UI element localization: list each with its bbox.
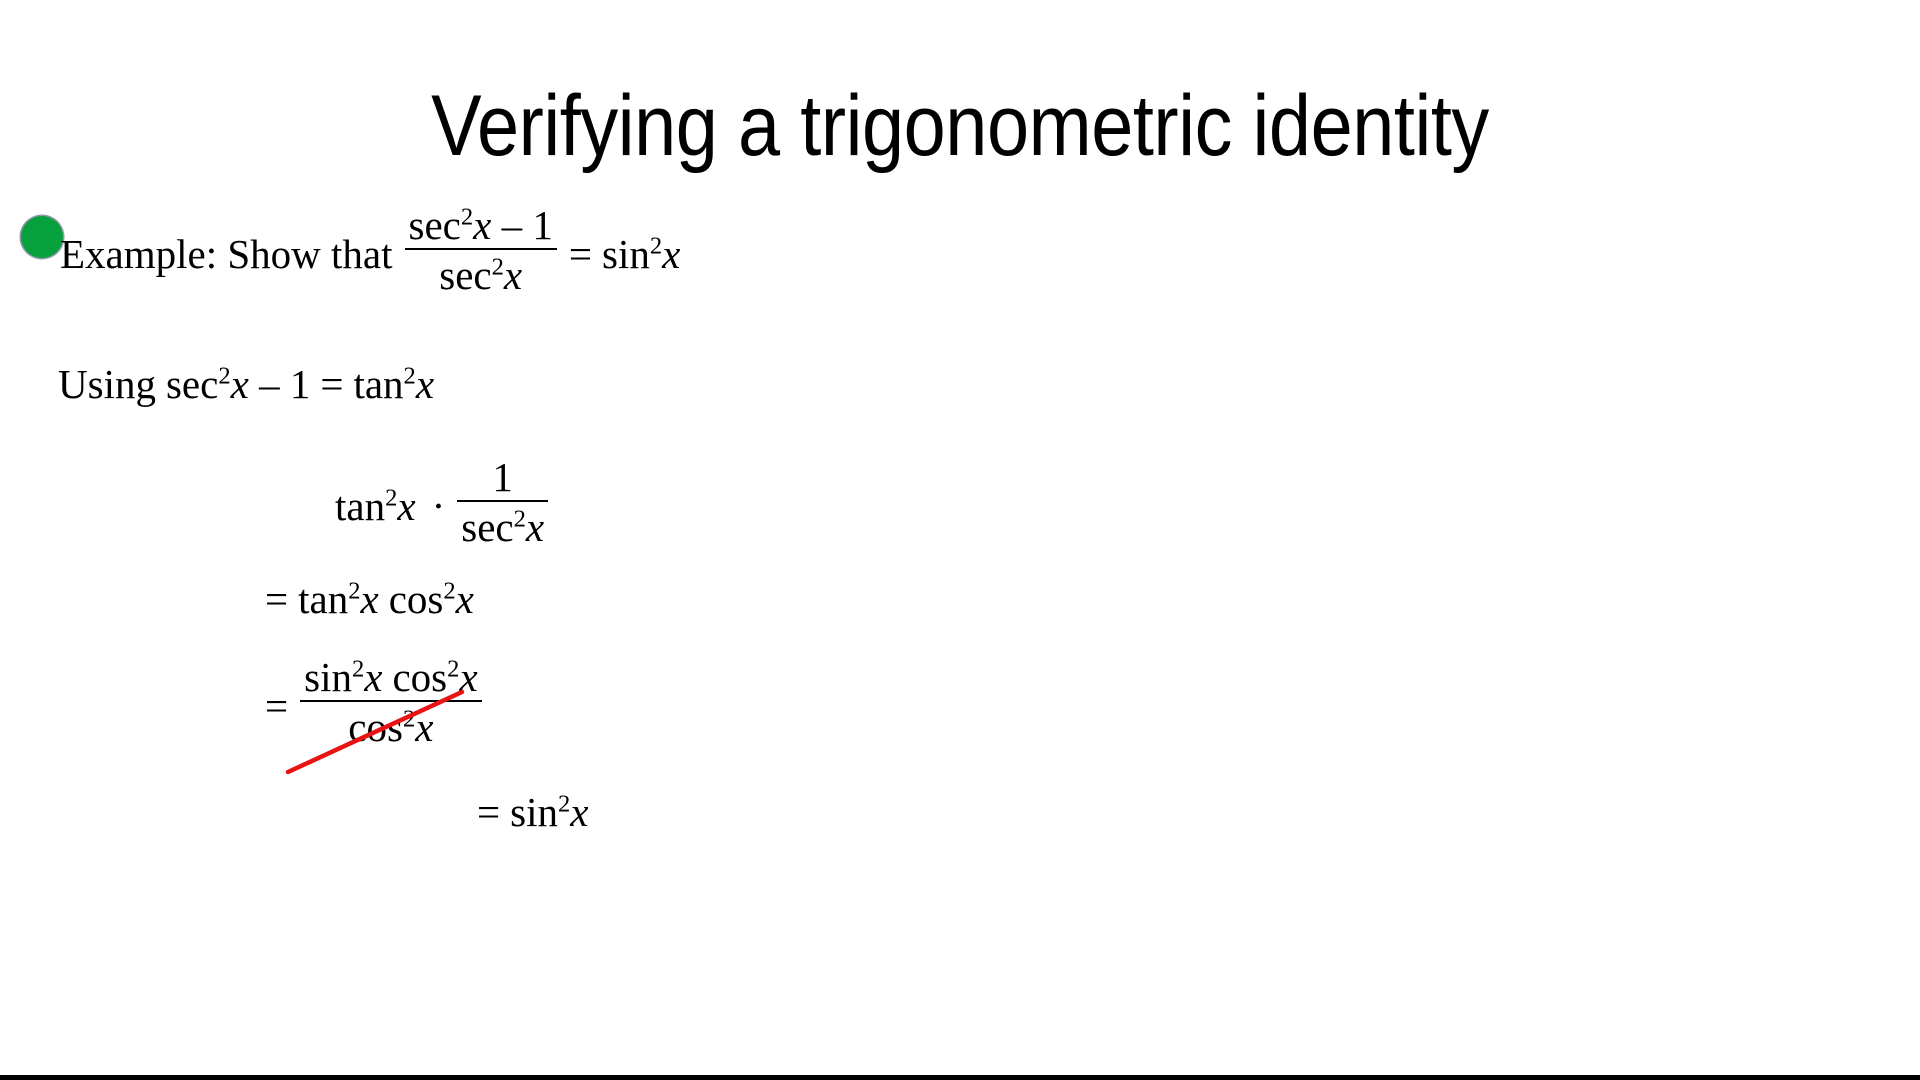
- sincos-fraction-numerator: sin2xcos2x: [300, 655, 482, 702]
- sincos-num-term1-base: sin: [304, 654, 352, 700]
- slide-canvas: Verifying a trigonometric identity Examp…: [0, 0, 1920, 1080]
- sincos-fraction: sin2xcos2xcos2x: [300, 655, 482, 750]
- using-rhs-exponent: 2: [404, 362, 416, 389]
- tancos-term2-base: cos: [389, 576, 444, 622]
- example-den-base: sec: [439, 252, 491, 298]
- sincos-fraction-denominator: cos2x: [300, 702, 482, 749]
- product-den-base: sec: [461, 504, 513, 550]
- tancos-term1-exponent: 2: [348, 577, 360, 604]
- sincos-den-variable: x: [415, 704, 433, 750]
- using-rhs-variable: x: [416, 361, 434, 407]
- bullet-dot-icon: [21, 216, 63, 258]
- example-rhs-exponent: 2: [650, 232, 662, 259]
- product-lhs-base: tan: [335, 483, 385, 529]
- example-num-base: sec: [409, 202, 461, 248]
- sincos-equals-sign: =: [265, 683, 288, 729]
- tancos-term2-exponent: 2: [443, 577, 455, 604]
- sincos-num-term1-exponent: 2: [352, 655, 364, 682]
- using-lhs-tail: – 1: [249, 361, 311, 407]
- example-rhs-base: sin: [602, 231, 650, 277]
- tancos-term2-variable: x: [456, 576, 474, 622]
- product-den-variable: x: [526, 504, 544, 550]
- example-den-exponent: 2: [492, 254, 504, 281]
- step-tancos-line: =tan2xcos2x: [265, 577, 474, 621]
- using-equals-sign: =: [320, 361, 343, 407]
- tancos-equals-sign: =: [265, 576, 288, 622]
- using-lhs-exponent: 2: [218, 362, 230, 389]
- sincos-den-exponent: 2: [403, 706, 415, 733]
- page-title: Verifying a trigonometric identity: [115, 78, 1805, 174]
- using-lhs-base: sec: [166, 361, 218, 407]
- tancos-term1-base: tan: [298, 576, 348, 622]
- result-equals-sign: =: [477, 789, 500, 835]
- result-variable: x: [570, 789, 588, 835]
- product-fraction: 1sec2x: [457, 455, 548, 550]
- example-fraction: sec2x – 1sec2x: [405, 203, 557, 298]
- example-rhs-variable: x: [662, 231, 680, 277]
- sincos-num-term2-base: cos: [392, 654, 447, 700]
- using-rhs-base: tan: [353, 361, 403, 407]
- example-label: Example: Show that: [60, 231, 393, 277]
- step-result-line: =sin2x: [477, 790, 588, 834]
- product-lhs-variable: x: [397, 483, 415, 529]
- product-fraction-numerator: 1: [457, 455, 548, 502]
- using-prefix: Using: [58, 361, 156, 407]
- sincos-den-base: cos: [348, 704, 403, 750]
- example-equals-sign: =: [569, 231, 592, 277]
- sincos-num-term2-variable: x: [459, 654, 477, 700]
- product-operator: ·: [432, 483, 446, 529]
- example-num-tail: – 1: [491, 202, 553, 248]
- example-num-exponent: 2: [461, 203, 473, 230]
- using-lhs-variable: x: [231, 361, 249, 407]
- example-fraction-denominator: sec2x: [405, 250, 557, 297]
- example-statement-line: Example: Show thatsec2x – 1sec2x=sin2x: [60, 203, 680, 298]
- example-fraction-numerator: sec2x – 1: [405, 203, 557, 250]
- tancos-term1-variable: x: [361, 576, 379, 622]
- step-sincos-line: =sin2xcos2xcos2x: [265, 655, 484, 750]
- product-den-exponent: 2: [514, 506, 526, 533]
- product-lhs-exponent: 2: [385, 484, 397, 511]
- sincos-num-term1-variable: x: [364, 654, 382, 700]
- example-num-variable: x: [473, 202, 491, 248]
- result-exponent: 2: [558, 790, 570, 817]
- product-fraction-denominator: sec2x: [457, 502, 548, 549]
- step-product-line: tan2x·1sec2x: [335, 455, 550, 550]
- example-den-variable: x: [504, 252, 522, 298]
- result-base: sin: [510, 789, 558, 835]
- using-identity-line: Usingsec2x – 1=tan2x: [58, 362, 434, 406]
- sincos-num-term2-exponent: 2: [447, 655, 459, 682]
